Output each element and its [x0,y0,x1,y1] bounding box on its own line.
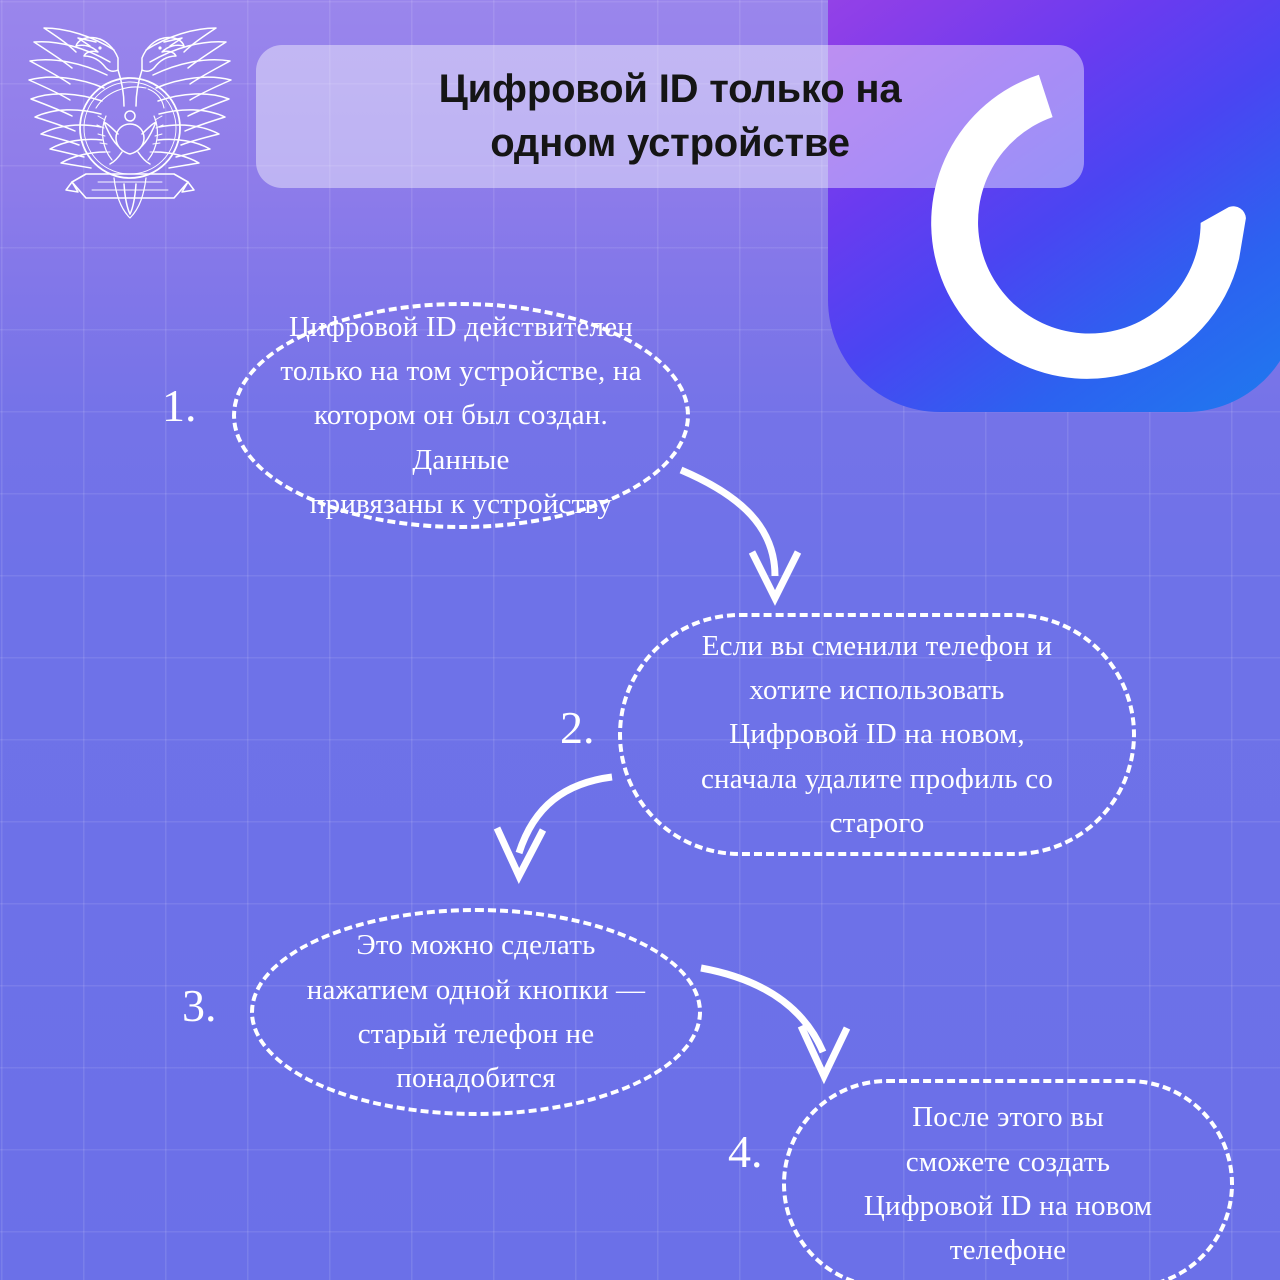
step-bubble-2[interactable]: Если вы сменили телефон и хотите использ… [618,613,1136,856]
page-title: Цифровой ID только на одном устройстве [350,63,990,170]
step-bubble-3[interactable]: Это можно сделать нажатием одной кнопки … [250,908,702,1116]
step-text-1: Цифровой ID действителен только на том у… [262,305,660,527]
step-number-4: 4. [728,1129,763,1175]
step-text-4: После этого вы сможете создать Цифровой … [812,1095,1204,1272]
step-number-1: 1. [162,383,197,429]
step-bubble-1[interactable]: Цифровой ID действителен только на том у… [232,302,690,529]
step-text-2: Если вы сменили телефон и хотите использ… [648,624,1106,846]
arrow-step-2-to-3 [497,777,612,876]
step-text-3: Это можно сделать нажатием одной кнопки … [280,923,672,1100]
ministry-emblem-icon [14,12,246,230]
arrow-step-3-to-4 [701,968,847,1076]
arrow-step-1-to-2 [681,470,798,598]
step-bubble-4[interactable]: После этого вы сможете создать Цифровой … [782,1079,1234,1280]
title-banner: Цифровой ID только на одном устройстве [256,45,1084,188]
step-number-3: 3. [182,983,217,1029]
step-number-2: 2. [560,705,595,751]
infographic-canvas: Цифровой ID только на одном устройстве [0,0,1280,1280]
